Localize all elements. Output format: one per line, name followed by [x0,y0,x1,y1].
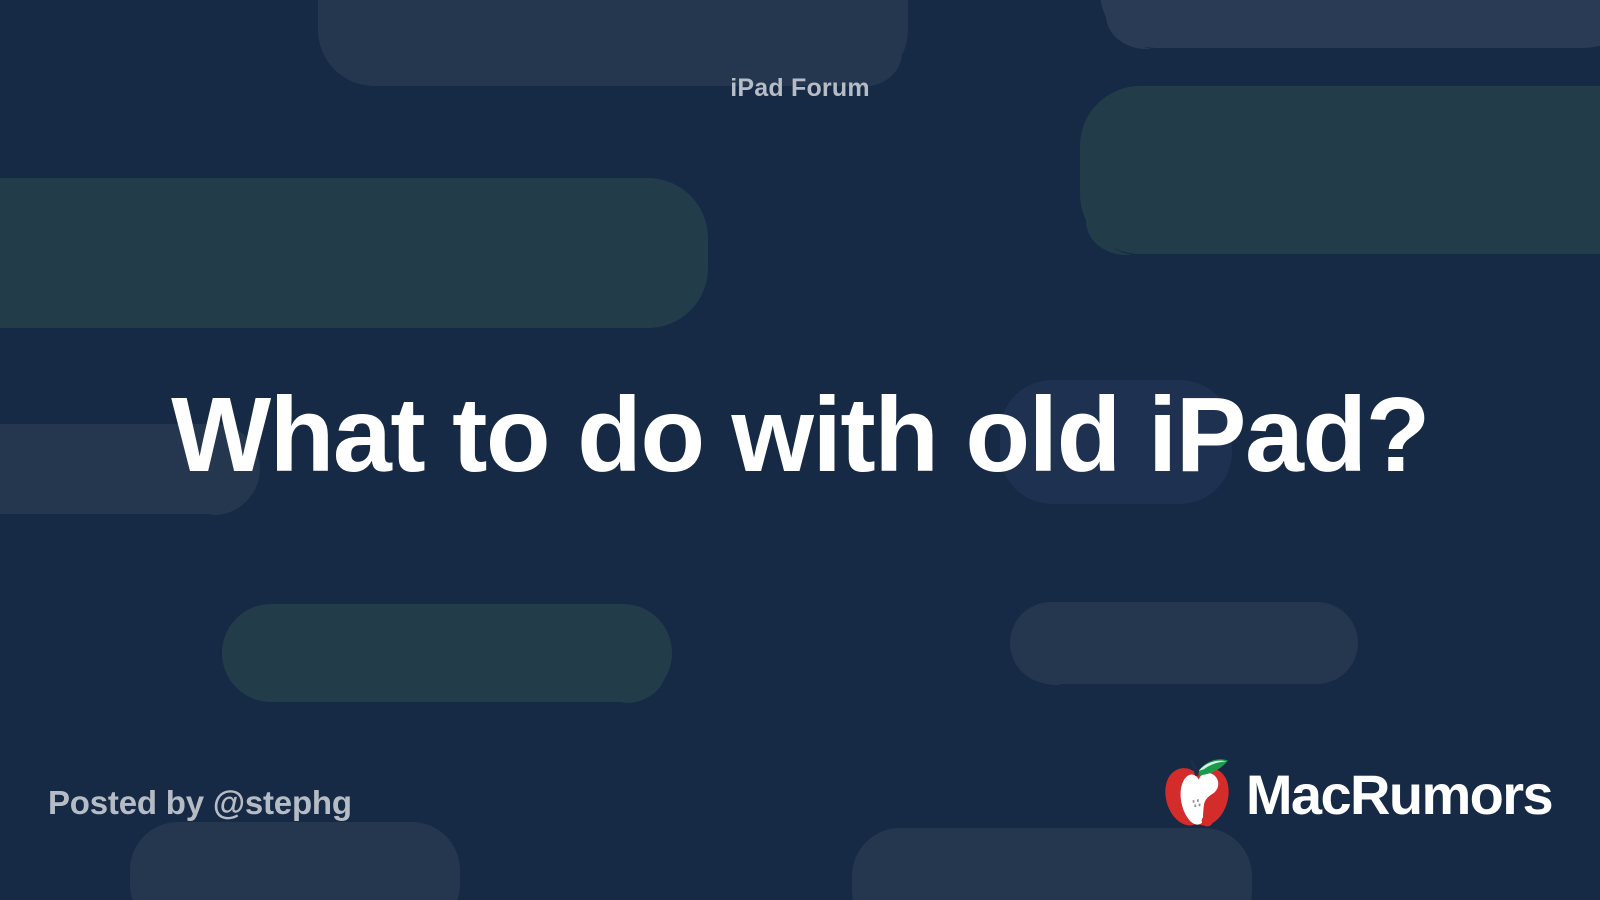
bubble-top-right [1100,0,1600,48]
social-share-card: iPad Forum What to do with old iPad? Pos… [0,0,1600,900]
bubble-bottom-right [1010,602,1358,684]
macrumors-logo: MacRumors [1154,752,1552,838]
bubble-left-teal [0,178,708,328]
macrumors-apple-icon [1154,752,1240,838]
bubble-bottom-left-teal [222,604,672,702]
forum-label: iPad Forum [0,74,1600,103]
macrumors-wordmark: MacRumors [1246,767,1552,823]
bubble-right-teal [1080,86,1600,254]
page-title: What to do with old iPad? [150,371,1450,500]
posted-by-label: Posted by @stephg [48,784,352,822]
bubble-footer-center [852,828,1252,900]
bubble-footer-left [130,822,460,900]
